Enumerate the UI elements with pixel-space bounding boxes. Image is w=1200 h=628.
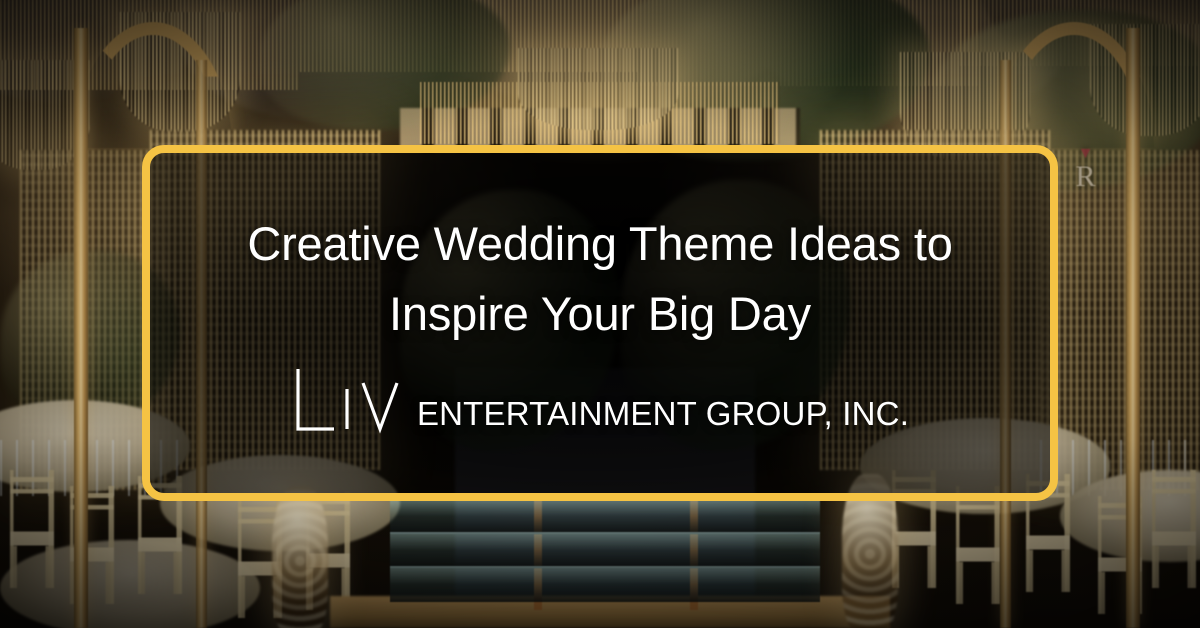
chiavari-chair <box>10 470 54 588</box>
glass-riser-step <box>390 566 820 602</box>
floral-light-pillar <box>272 486 328 628</box>
page-title: Creative Wedding Theme Ideas to Inspire … <box>207 209 992 349</box>
headline-line-1: Creative Wedding Theme Ideas to <box>247 217 952 270</box>
gold-pole <box>1126 28 1140 628</box>
wall-signage: ▼ R <box>1063 148 1109 244</box>
company-name: ENTERTAINMENT GROUP, INC. <box>417 397 909 437</box>
signage-mark-icon: ▼ <box>1063 148 1109 160</box>
chandelier-icon <box>518 48 678 130</box>
brand-logo-lockup: ENTERTAINMENT GROUP, INC. <box>291 367 909 437</box>
content-frame: Creative Wedding Theme Ideas to Inspire … <box>142 145 1058 501</box>
gold-pole <box>74 28 88 628</box>
social-share-card: ▼ R Creative Wedding Theme Ideas to Insp… <box>0 0 1200 628</box>
frame-inner: Creative Wedding Theme Ideas to Inspire … <box>150 209 1050 437</box>
glass-riser-step <box>390 532 820 568</box>
chiavari-chair <box>1152 470 1196 588</box>
liv-monogram-icon <box>291 367 403 437</box>
chiavari-chair <box>956 486 1000 604</box>
headline-line-2: Inspire Your Big Day <box>389 287 811 340</box>
glass-riser-step <box>390 498 820 534</box>
signage-letter: R <box>1075 160 1096 193</box>
